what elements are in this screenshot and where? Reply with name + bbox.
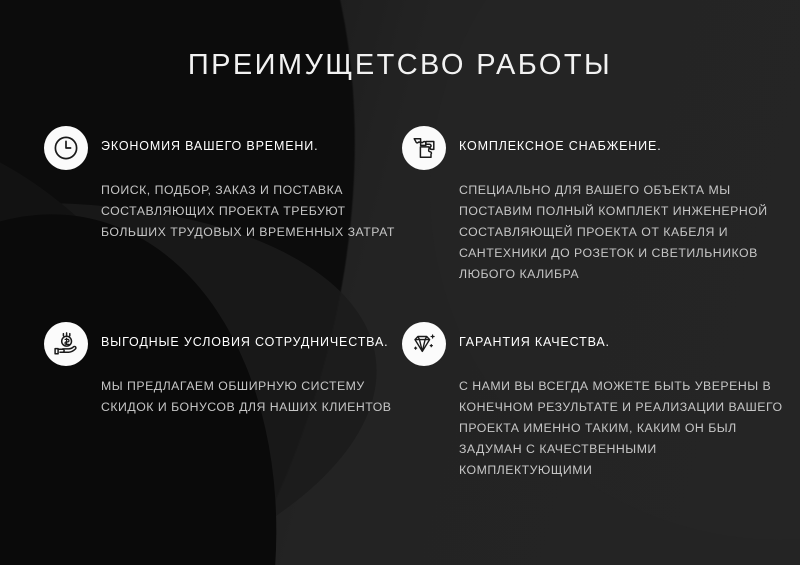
feature-body-line: СОСТАВЛЯЮЩЕЙ ПРОЕКТА ОТ КАБЕЛЯ И: [459, 222, 738, 243]
page-title: ПРЕИМУЩЕТСВО РАБОТЫ: [0, 49, 800, 82]
feature-body-line: КОМПЛЕКТУЮЩИМИ: [459, 460, 738, 481]
slide-canvas: ПРЕИМУЩЕТСВО РАБОТЫ ЭКОНОМИЯ ВАШЕГО ВРЕМ…: [0, 0, 800, 565]
feature-body: ПОИСК, ПОДБОР, ЗАКАЗ И ПОСТАВКА СОСТАВЛЯ…: [101, 154, 380, 243]
feature-body: СПЕЦИАЛЬНО ДЛЯ ВАШЕГО ОБЪЕКТА МЫ ПОСТАВИ…: [459, 154, 738, 285]
feature-body-line: ПОСТАВИМ ПОЛНЫЙ КОМПЛЕКТ ИНЖЕНЕРНОЙ: [459, 201, 738, 222]
features-grid: ЭКОНОМИЯ ВАШЕГО ВРЕМЕНИ. ПОИСК, ПОДБОР, …: [44, 126, 760, 481]
feature-title: ЭКОНОМИЯ ВАШЕГО ВРЕМЕНИ.: [101, 126, 380, 154]
feature-body-line: КОНЕЧНОМ РЕЗУЛЬТАТЕ И РЕАЛИЗАЦИИ ВАШЕГО: [459, 397, 738, 418]
feature-body-line: СКИДОК И БОНУСОВ ДЛЯ НАШИХ КЛИЕНТОВ: [101, 397, 380, 418]
feature-item-quality-guarantee: ГАРАНТИЯ КАЧЕСТВА. С НАМИ ВЫ ВСЕГДА МОЖЕ…: [402, 322, 760, 481]
feature-title: ВЫГОДНЫЕ УСЛОВИЯ СОТРУДНИЧЕСТВА.: [101, 322, 380, 350]
hand-coin-icon: [44, 322, 88, 366]
feature-body-line: ПОИСК, ПОДБОР, ЗАКАЗ И ПОСТАВКА: [101, 180, 380, 201]
feature-body-line: БОЛЬШИХ ТРУДОВЫХ И ВРЕМЕННЫХ ЗАТРАТ: [101, 222, 380, 243]
feature-body: МЫ ПРЕДЛАГАЕМ ОБШИРНУЮ СИСТЕМУ СКИДОК И …: [101, 350, 380, 418]
feature-item-favourable-terms: ВЫГОДНЫЕ УСЛОВИЯ СОТРУДНИЧЕСТВА. МЫ ПРЕД…: [44, 322, 402, 481]
feature-body: С НАМИ ВЫ ВСЕГДА МОЖЕТЕ БЫТЬ УВЕРЕНЫ В К…: [459, 350, 738, 481]
feature-body-line: СПЕЦИАЛЬНО ДЛЯ ВАШЕГО ОБЪЕКТА МЫ: [459, 180, 738, 201]
diamond-icon: [402, 322, 446, 366]
feature-body-line: СОСТАВЛЯЮЩИХ ПРОЕКТА ТРЕБУЮТ: [101, 201, 380, 222]
clock-icon: [44, 126, 88, 170]
feature-body-line: ПРОЕКТА ИМЕННО ТАКИМ, КАКИМ ОН БЫЛ: [459, 418, 738, 439]
feature-title: КОМПЛЕКСНОЕ СНАБЖЕНИЕ.: [459, 126, 738, 154]
feature-body-line: ЗАДУМАН С КАЧЕСТВЕННЫМИ: [459, 439, 738, 460]
feature-item-complex-supply: КОМПЛЕКСНОЕ СНАБЖЕНИЕ. СПЕЦИАЛЬНО ДЛЯ ВА…: [402, 126, 760, 322]
feature-body-line: ЛЮБОГО КАЛИБРА: [459, 264, 738, 285]
feature-body-line: МЫ ПРЕДЛАГАЕМ ОБШИРНУЮ СИСТЕМУ: [101, 376, 380, 397]
puzzle-icon: [402, 126, 446, 170]
feature-body-line: С НАМИ ВЫ ВСЕГДА МОЖЕТЕ БЫТЬ УВЕРЕНЫ В: [459, 376, 738, 397]
feature-item-time-saving: ЭКОНОМИЯ ВАШЕГО ВРЕМЕНИ. ПОИСК, ПОДБОР, …: [44, 126, 402, 322]
feature-body-line: САНТЕХНИКИ ДО РОЗЕТОК И СВЕТИЛЬНИКОВ: [459, 243, 738, 264]
feature-title: ГАРАНТИЯ КАЧЕСТВА.: [459, 322, 738, 350]
